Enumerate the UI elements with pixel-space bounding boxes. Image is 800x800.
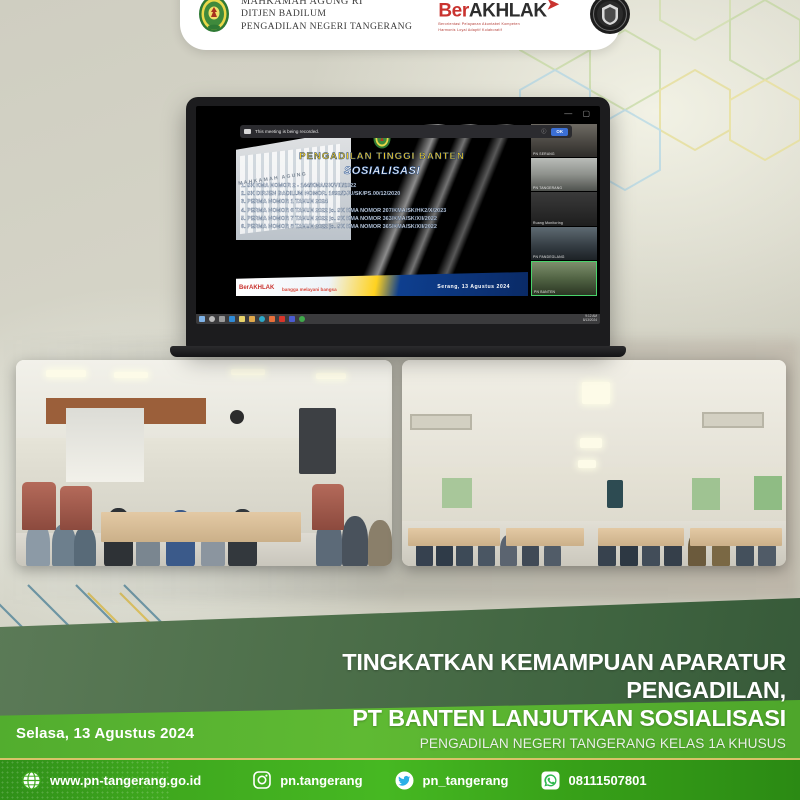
participant-label: Ruang Monitoring [533, 221, 563, 225]
participant-label: PN PANDEGLANG [533, 255, 565, 259]
info-icon[interactable]: ⓘ [541, 128, 546, 135]
footer-whatsapp[interactable]: 08111507801 [541, 771, 647, 790]
search-icon[interactable] [209, 316, 215, 322]
participant-tile-active[interactable]: PN BANTEN [531, 261, 597, 296]
berakhlak-ber: Ber [438, 0, 468, 21]
ceiling-lamp [578, 460, 596, 468]
photo-door [299, 408, 336, 474]
recording-message: This meeting is being recorded. [255, 129, 541, 134]
berakhlak-logo: BerAKHLAK➤ Berorientasi Pelayanan Akunta… [438, 0, 558, 33]
date-banner: Selasa, 13 Agustus 2024 [16, 725, 194, 742]
footer-twitter[interactable]: pn_tangerang [395, 771, 509, 790]
instagram-icon [253, 771, 271, 789]
footer-instagram[interactable]: pn.tangerang [253, 771, 362, 789]
attendee [342, 516, 368, 566]
institution-name: MAHKAMAH AGUNG RI DITJEN BADILUM PENGADI… [241, 0, 412, 33]
participant-label: PN TANGERANG [533, 186, 562, 190]
ceiling-lamp [582, 382, 610, 404]
photos-icon[interactable] [269, 316, 275, 322]
mail-icon[interactable] [229, 316, 235, 322]
windows-taskbar: 9:12 AM 8/13/2024 [196, 314, 600, 324]
window-controls[interactable]: — ▢ [564, 109, 594, 118]
zona-integritas-badge-icon [589, 0, 631, 35]
berakhlak-akhlak: AKHLAK [469, 0, 547, 21]
photo-row-table [408, 528, 500, 546]
headline-line-1: TINGKATKAN KEMAMPUAN APARATUR PENGADILAN… [186, 648, 786, 704]
photo-wall-clock [230, 410, 244, 424]
attendee [52, 524, 76, 566]
taskbar-date: 8/13/2024 [583, 319, 597, 323]
attendee [74, 526, 96, 566]
photo-meeting-wide-hall [402, 360, 786, 566]
institution-line-1: MAHKAMAH AGUNG RI [241, 0, 412, 8]
berakhlak-tick-icon: ➤ [547, 0, 559, 13]
photo-meeting-front-table [16, 360, 392, 566]
slide-title: PENGADILAN TINGGI BANTEN [236, 151, 528, 162]
footer-website[interactable]: www.pn-tangerang.go.id [22, 771, 201, 790]
footer-twitter-label: pn_tangerang [423, 773, 509, 788]
institution-line-3: PENGADILAN NEGERI TANGERANG [241, 21, 412, 34]
twitter-icon [395, 771, 414, 790]
photo-front-table [101, 512, 301, 542]
laptop-body: — ▢ MAHKAMAH AGUNG PENGADILAN TINGGI BAN… [186, 97, 610, 349]
slide-footer-place-date: Serang, 13 Agustus 2024 [437, 284, 510, 290]
teams-icon[interactable] [289, 316, 295, 322]
edge-icon[interactable] [259, 316, 265, 322]
headline-line-2: PT BANTEN LANJUTKAN SOSIALISASI [186, 704, 786, 732]
slide-list-item: 2. SK DIRJEN BADILUM NOMOR. 1692/DJU/SK/… [241, 190, 522, 198]
participant-video-rail: PN SERANG PN TANGERANG Ruang Monitoring … [531, 124, 597, 296]
participant-tile[interactable]: PN TANGERANG [531, 158, 597, 191]
footer-website-label: www.pn-tangerang.go.id [50, 773, 201, 788]
ceiling-lamp [580, 438, 602, 448]
photo-row-table [598, 528, 684, 546]
laptop-mockup: — ▢ MAHKAMAH AGUNG PENGADILAN TINGGI BAN… [186, 97, 610, 349]
slide-list-item: 1. SK KMA NOMOR 2 - 144/KMA/SK/VIII/2022 [241, 182, 522, 190]
ceiling-lamp [114, 372, 148, 378]
start-icon[interactable] [199, 316, 205, 322]
slide-subtitle: SOSIALISASI [236, 165, 528, 177]
participant-tile[interactable]: Ruang Monitoring [531, 192, 597, 225]
slide-footer-berakhlak: BerAKHLAK [239, 285, 274, 291]
institution-line-2: DITJEN BADILUM [241, 8, 412, 21]
poster-canvas: MAHKAMAH AGUNG RI DITJEN BADILUM PENGADI… [0, 0, 800, 800]
explorer-icon[interactable] [239, 316, 245, 322]
presentation-slide: MAHKAMAH AGUNG PENGADILAN TINGGI BANTEN … [236, 124, 528, 296]
headline-subtitle: PENGADILAN NEGERI TANGERANG KELAS 1A KHU… [186, 736, 786, 751]
task-view-icon[interactable] [219, 316, 225, 322]
recording-ok-button[interactable]: OK [551, 128, 568, 136]
ceiling-lamp [316, 373, 346, 379]
participant-tile[interactable]: PN PANDEGLANG [531, 227, 597, 260]
laptop-screen: — ▢ MAHKAMAH AGUNG PENGADILAN TINGGI BAN… [196, 106, 600, 324]
ceiling-lamp [231, 369, 265, 375]
attendee [368, 520, 392, 566]
header-plate: MAHKAMAH AGUNG RI DITJEN BADILUM PENGADI… [180, 0, 620, 50]
pdf-icon[interactable] [279, 316, 285, 322]
slide-list-item: 6. PERMA NOMOR 8 TAHUN 2022 jo. SK KMA N… [241, 223, 522, 231]
store-icon[interactable] [249, 316, 255, 322]
slide-regulation-list: 1. SK KMA NOMOR 2 - 144/KMA/SK/VIII/2022… [241, 182, 522, 231]
slide-footer-bangga: bangga melayani bangsa [282, 288, 337, 293]
participant-label: PN BANTEN [534, 290, 555, 294]
whatsapp-icon [541, 771, 560, 790]
photo-chair [312, 484, 344, 530]
slide-list-item: 3. PERMA NOMOR 1 TAHUN 2024 [241, 198, 522, 206]
globe-icon [22, 771, 41, 790]
photo-row-table [506, 528, 584, 546]
headline-block: TINGKATKAN KEMAMPUAN APARATUR PENGADILAN… [186, 648, 786, 751]
berakhlak-tagline-2: Harmonis Loyal Adaptif Kolaboratif [438, 28, 558, 33]
participant-label: PN SERANG [533, 152, 555, 156]
taskbar-clock[interactable]: 9:12 AM 8/13/2024 [583, 315, 597, 323]
slide-list-item: 4. PERMA NOMOR 6 TAHUN 2022 jo. SK KMA N… [241, 207, 522, 215]
recording-camera-icon [244, 129, 251, 134]
photo-doorway [66, 408, 144, 482]
photo-ac-vent [702, 412, 764, 428]
recording-notification-bar: This meeting is being recorded. ⓘ OK [240, 125, 572, 138]
footer-whatsapp-label: 08111507801 [569, 773, 647, 788]
ceiling-lamp [46, 370, 86, 377]
footer-instagram-label: pn.tangerang [280, 773, 362, 788]
photo-chair [60, 486, 92, 530]
footer-contact-bar: www.pn-tangerang.go.id pn.tangerang pn_t… [0, 758, 800, 800]
slide-list-item: 5. PERMA NOMOR 7 TAHUN 2022 jo. SK KMA N… [241, 215, 522, 223]
photo-chair [22, 482, 56, 530]
mahkamah-agung-seal-icon [196, 0, 232, 34]
laptop-base [170, 346, 626, 357]
photo-ac-vent [410, 414, 472, 430]
photo-row-table [690, 528, 782, 546]
chrome-icon[interactable] [299, 316, 305, 322]
